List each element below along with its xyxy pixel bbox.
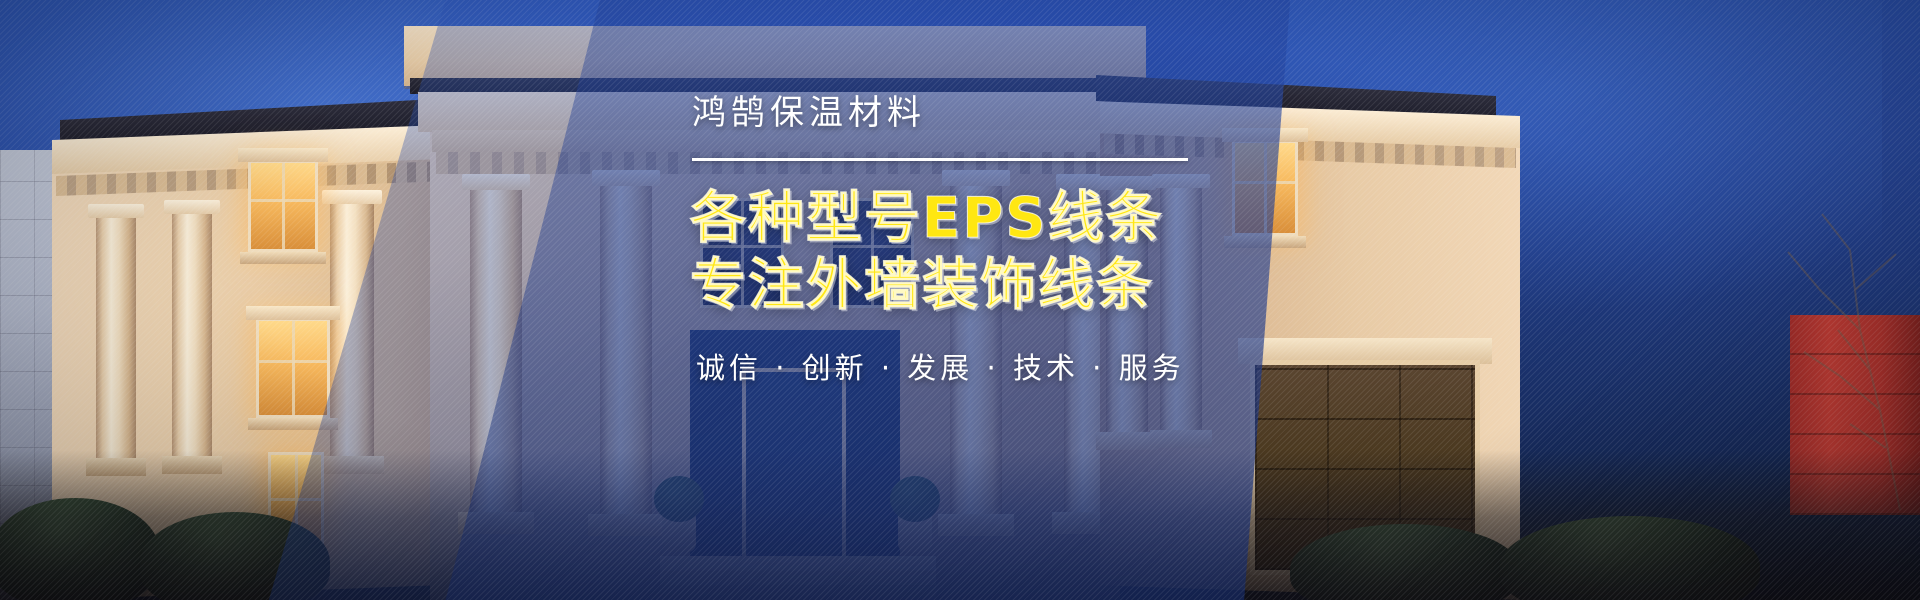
center-entablature: [404, 26, 1146, 86]
column-cap-center-2: [592, 170, 660, 186]
column-cap-left-3: [322, 190, 382, 204]
window-head-left-lower: [246, 306, 340, 320]
column-cap-center-1: [462, 174, 530, 190]
column-base-right-2: [1150, 430, 1212, 448]
foreground-ground-shadow: [0, 450, 1920, 600]
window-left-lower: [256, 318, 330, 418]
tagline: 诚信 · 创新 · 发展 · 技术 · 服务: [696, 354, 1310, 383]
banner-text-block: 鸿鹄保温材料 各种型号EPS线条 专注外墙装饰线条 诚信 · 创新 · 发展 ·…: [690, 96, 1310, 383]
column-cap-left-2: [164, 200, 220, 214]
promo-banner: 鸿鹄保温材料 各种型号EPS线条 专注外墙装饰线条 诚信 · 创新 · 发展 ·…: [0, 0, 1920, 600]
window-sill-left-lower: [248, 418, 338, 430]
column-left-2: [172, 210, 212, 462]
brand-name: 鸿鹄保温材料: [692, 96, 1310, 130]
window-left-upper: [248, 160, 318, 252]
column-cap-left-1: [88, 204, 144, 218]
window-sill-left-upper: [240, 252, 326, 264]
window-mullion-vertical: [292, 321, 295, 415]
window-mullion-horizontal: [259, 360, 327, 363]
window-head-left-upper: [238, 148, 328, 162]
column-left-1: [96, 214, 136, 464]
column-base-right-1: [1096, 432, 1158, 450]
title-divider: [692, 158, 1188, 161]
window-mullion-horizontal: [251, 199, 315, 202]
window-mullion-vertical: [282, 163, 285, 249]
headline-line-1: 各种型号EPS线条: [690, 187, 1310, 250]
headline-line-2: 专注外墙装饰线条: [690, 254, 1310, 317]
